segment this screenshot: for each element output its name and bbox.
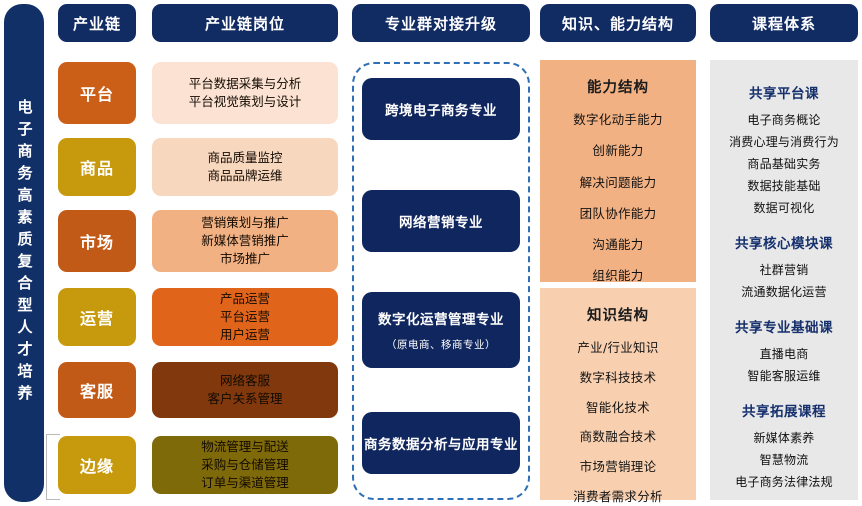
job-item: 物流管理与配送 — [201, 438, 289, 456]
job-box-1[interactable]: 平台数据采集与分析平台视觉策划与设计 — [152, 62, 338, 124]
course-section-head-1: 共享平台课 — [749, 82, 819, 102]
course-section-head-4: 共享拓展课程 — [742, 400, 826, 420]
chain-node-2[interactable]: 商品 — [58, 138, 136, 196]
structure-item: 商数融合技术 — [580, 426, 657, 445]
job-item: 商品品牌运维 — [207, 167, 282, 185]
job-item: 订单与渠道管理 — [201, 474, 289, 492]
structure-item: 数字科技技术 — [580, 367, 657, 386]
course-system-panel: 共享平台课电子商务概论消费心理与消费行为商品基础实务数据技能基础数据可视化共享核… — [710, 60, 858, 500]
chain-node-4[interactable]: 运营 — [58, 288, 136, 346]
column-header-5: 课程体系 — [710, 4, 858, 42]
course-item: 新媒体素养 — [753, 429, 814, 446]
structure-panel-1: 能力结构数字化动手能力创新能力解决问题能力团队协作能力沟通能力组织能力 — [540, 60, 696, 282]
major-box-3[interactable]: 数字化运营管理专业（原电商、移商专业） — [362, 292, 520, 368]
job-item: 产品运营 — [220, 290, 270, 308]
major-title: 数字化运营管理专业 — [378, 308, 504, 328]
structure-item: 团队协作能力 — [580, 203, 657, 222]
major-box-4[interactable]: 商务数据分析与应用专业 — [362, 412, 520, 474]
column-header-3: 专业群对接升级 — [352, 4, 530, 42]
job-item: 平台数据采集与分析 — [189, 75, 302, 93]
structure-item: 产业/行业知识 — [577, 337, 658, 356]
chain-node-6[interactable]: 边缘 — [58, 436, 136, 494]
vertical-title-text: 电子商务高素质复合型人才培养 — [17, 99, 32, 407]
job-item: 客户关系管理 — [207, 390, 282, 408]
structure-item: 沟通能力 — [592, 234, 643, 253]
job-box-5[interactable]: 网络客服客户关系管理 — [152, 362, 338, 418]
chain-node-3[interactable]: 市场 — [58, 210, 136, 272]
structure-panel-2: 知识结构产业/行业知识数字科技技术智能化技术商数融合技术市场营销理论消费者需求分… — [540, 288, 696, 500]
major-box-1[interactable]: 跨境电子商务专业 — [362, 78, 520, 140]
major-subtitle: （原电商、移商专业） — [386, 337, 496, 352]
diagram-canvas: 电子商务高素质复合型人才培养 产业链产业链岗位专业群对接升级知识、能力结构课程体… — [0, 0, 862, 506]
structure-item: 消费者需求分析 — [573, 486, 663, 505]
structure-panel-title: 能力结构 — [587, 76, 649, 97]
course-section-head-2: 共享核心模块课 — [735, 232, 833, 252]
job-box-4[interactable]: 产品运营平台运营用户运营 — [152, 288, 338, 346]
structure-item: 创新能力 — [592, 140, 643, 159]
major-title: 网络营销专业 — [399, 211, 483, 231]
job-box-2[interactable]: 商品质量监控商品品牌运维 — [152, 138, 338, 196]
course-item: 数据技能基础 — [747, 177, 820, 194]
structure-panel-title: 知识结构 — [587, 304, 649, 325]
course-section-head-3: 共享专业基础课 — [735, 316, 833, 336]
job-box-3[interactable]: 营销策划与推广新媒体营销推广市场推广 — [152, 210, 338, 272]
course-item: 流通数据化运营 — [741, 283, 826, 300]
column-header-4: 知识、能力结构 — [540, 4, 696, 42]
job-item: 营销策划与推广 — [201, 214, 289, 232]
course-item: 社群营销 — [760, 261, 809, 278]
job-item: 新媒体营销推广 — [201, 232, 289, 250]
job-item: 商品质量监控 — [207, 149, 282, 167]
chain-node-1[interactable]: 平台 — [58, 62, 136, 124]
course-item: 智慧物流 — [760, 451, 809, 468]
job-item: 网络客服 — [220, 372, 270, 390]
structure-item: 数字化动手能力 — [573, 109, 663, 128]
structure-item: 智能化技术 — [586, 397, 650, 416]
job-item: 平台运营 — [220, 308, 270, 326]
structure-item: 市场营销理论 — [580, 456, 657, 475]
job-item: 市场推广 — [220, 250, 270, 268]
column-header-1: 产业链 — [58, 4, 136, 42]
course-item: 电子商务法律法规 — [735, 473, 833, 490]
major-title: 跨境电子商务专业 — [385, 99, 497, 119]
chain-node-5[interactable]: 客服 — [58, 362, 136, 418]
structure-item: 解决问题能力 — [580, 172, 657, 191]
course-item: 数据可视化 — [753, 199, 814, 216]
vertical-title-bar: 电子商务高素质复合型人才培养 — [4, 4, 44, 502]
job-box-6[interactable]: 物流管理与配送采购与仓储管理订单与渠道管理 — [152, 436, 338, 494]
major-title: 商务数据分析与应用专业 — [364, 433, 518, 453]
major-box-2[interactable]: 网络营销专业 — [362, 190, 520, 252]
job-item: 用户运营 — [220, 326, 270, 344]
course-item: 直播电商 — [760, 345, 809, 362]
job-item: 采购与仓储管理 — [201, 456, 289, 474]
column-header-2: 产业链岗位 — [152, 4, 338, 42]
course-item: 商品基础实务 — [747, 155, 820, 172]
structure-item: 组织能力 — [592, 265, 643, 284]
course-item: 电子商务概论 — [747, 111, 820, 128]
course-item: 消费心理与消费行为 — [729, 133, 839, 150]
job-item: 平台视觉策划与设计 — [189, 93, 302, 111]
course-item: 智能客服运维 — [747, 367, 820, 384]
